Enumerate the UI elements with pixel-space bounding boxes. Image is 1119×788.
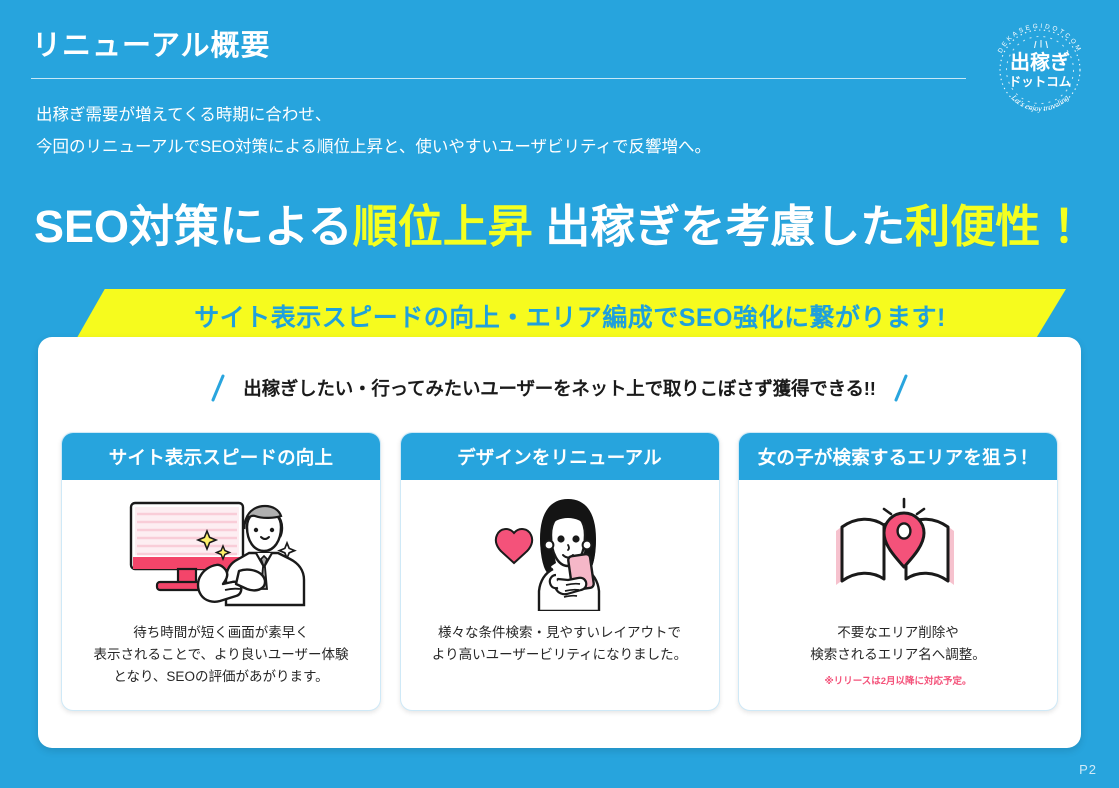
feature-card-area[interactable]: 女の子が検索するエリアを狙う！ xyxy=(738,432,1058,711)
feature-card-design[interactable]: デザインをリニューアル xyxy=(400,432,720,711)
page-title: リニューアル概要 xyxy=(32,22,271,64)
feature-card-list: サイト表示スピードの向上 xyxy=(61,432,1058,711)
card-note: ※リリースは2月以降に対応予定。 xyxy=(824,673,971,687)
card-body: 様々な条件検索・見やすいレイアウトで より高いユーザービリティになりました。 xyxy=(401,480,719,710)
svg-text:出稼ぎ: 出稼ぎ xyxy=(1010,50,1070,74)
diagonal-slash-right-icon xyxy=(893,374,908,402)
feature-card-speed[interactable]: サイト表示スピードの向上 xyxy=(61,432,381,711)
card-body: 待ち時間が短く画面が素早く 表示されることで、より良いユーザー体験 となり、SE… xyxy=(62,480,380,710)
panel-headline-row: 出稼ぎしたい・行ってみたいユーザーをネット上で取りこぼさず獲得できる!! xyxy=(38,374,1081,402)
lead-line-2: 今回のリニューアルでSEO対策による順位上昇と、使いやすいユーザビリティで反響増… xyxy=(36,131,711,163)
card-title: 女の子が検索するエリアを狙う！ xyxy=(739,433,1057,480)
dekasegi-dotcom-logo-icon: DEKASEGIDOTCOM 出稼ぎ ドットコム Let's enjoy tra… xyxy=(981,8,1099,126)
headline-part-1: SEO対策による xyxy=(34,201,353,252)
main-headline: SEO対策による順位上昇 出稼ぎを考慮した利便性 ！ xyxy=(34,190,1098,255)
card-description: 様々な条件検索・見やすいレイアウトで より高いユーザービリティになりました。 xyxy=(432,622,687,666)
card-description: 待ち時間が短く画面が素早く 表示されることで、より良いユーザー体験 となり、SE… xyxy=(93,622,348,688)
card-title: サイト表示スピードの向上 xyxy=(62,433,380,480)
open-book-with-map-pin-icon xyxy=(818,492,978,612)
page-number: P2 xyxy=(1079,762,1097,777)
headline-highlight-1: 順位上昇 xyxy=(353,201,533,252)
lead-paragraph: 出稼ぎ需要が増えてくる時期に合わせ、 今回のリニューアルでSEO対策による順位上… xyxy=(36,99,711,163)
card-title: デザインをリニューアル xyxy=(401,433,719,480)
card-body: 不要なエリア削除や 検索されるエリア名へ調整。 ※リリースは2月以降に対応予定。 xyxy=(739,480,1057,710)
svg-text:ドットコム: ドットコム xyxy=(1009,74,1072,89)
yellow-banner: サイト表示スピードの向上・エリア編成でSEO強化に繋がります! xyxy=(74,289,1066,343)
woman-with-smartphone-icon xyxy=(480,492,640,612)
headline-highlight-2: 利便性 ！ xyxy=(905,201,1098,252)
lead-line-1: 出稼ぎ需要が増えてくる時期に合わせ、 xyxy=(36,99,711,131)
yellow-banner-text: サイト表示スピードの向上・エリア編成でSEO強化に繋がります! xyxy=(74,289,1066,343)
card-description: 不要なエリア削除や 検索されるエリア名へ調整。 xyxy=(810,622,986,666)
diagonal-slash-left-icon xyxy=(211,374,226,402)
white-content-panel: 出稼ぎしたい・行ってみたいユーザーをネット上で取りこぼさず獲得できる!! サイト… xyxy=(38,337,1081,748)
panel-headline: 出稼ぎしたい・行ってみたいユーザーをネット上で取りこぼさず獲得できる!! xyxy=(243,375,875,401)
monitor-with-person-icon xyxy=(123,492,319,612)
headline-part-2: 出稼ぎを考慮した xyxy=(533,201,906,252)
slide-canvas: リニューアル概要 DEKASEGIDOTCOM 出稼ぎ ドットコム xyxy=(0,0,1119,788)
title-divider xyxy=(31,78,966,79)
